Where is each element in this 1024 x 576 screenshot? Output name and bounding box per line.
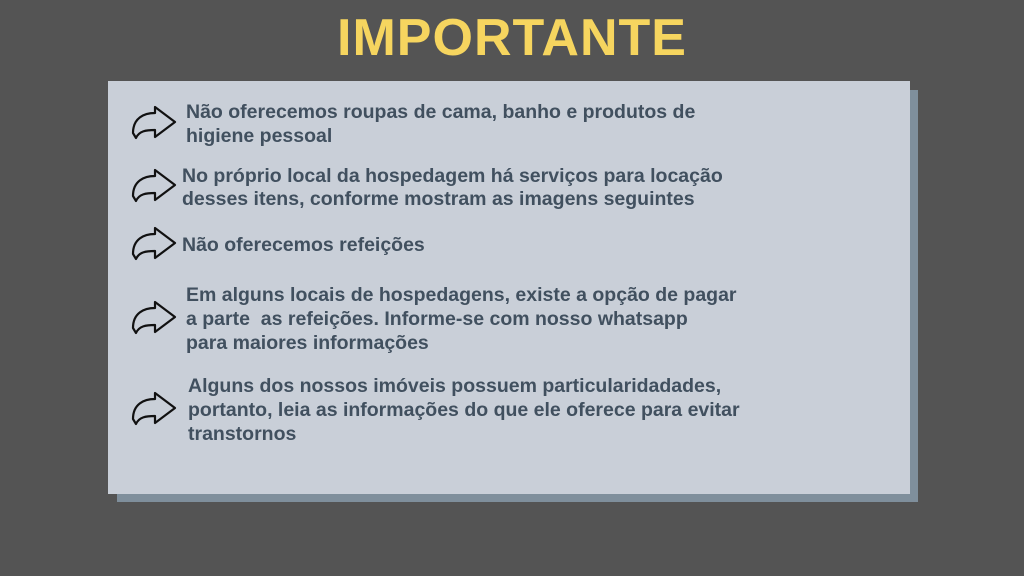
list-item: No próprio local da hospedagem há serviç… xyxy=(130,165,890,213)
list-item-label: Não oferecemos refeições xyxy=(182,234,425,258)
list-item-label: Em alguns locais de hospedagens, existe … xyxy=(186,284,737,355)
list-item: Alguns dos nossos imóveis possuem partic… xyxy=(130,375,890,446)
list-item: Não oferecemos refeições xyxy=(130,226,890,266)
list-item-label: Não oferecemos roupas de cama, banho e p… xyxy=(186,101,695,149)
block-arrow-right-icon xyxy=(130,300,178,340)
block-arrow-right-icon xyxy=(130,105,178,145)
list-item-label: Alguns dos nossos imóveis possuem partic… xyxy=(188,375,740,446)
block-arrow-right-icon xyxy=(130,226,178,266)
presentation-slide: IMPORTANTE Não oferecemos roupas de cama… xyxy=(0,0,1024,576)
list-item: Não oferecemos roupas de cama, banho e p… xyxy=(130,101,890,149)
list-item-label: No próprio local da hospedagem há serviç… xyxy=(182,165,723,213)
list-item: Em alguns locais de hospedagens, existe … xyxy=(130,284,890,355)
content-panel: Não oferecemos roupas de cama, banho e p… xyxy=(108,81,910,494)
page-title: IMPORTANTE xyxy=(0,12,1024,64)
block-arrow-right-icon xyxy=(130,168,178,208)
bullet-list: Não oferecemos roupas de cama, banho e p… xyxy=(130,95,890,484)
block-arrow-right-icon xyxy=(130,391,178,431)
